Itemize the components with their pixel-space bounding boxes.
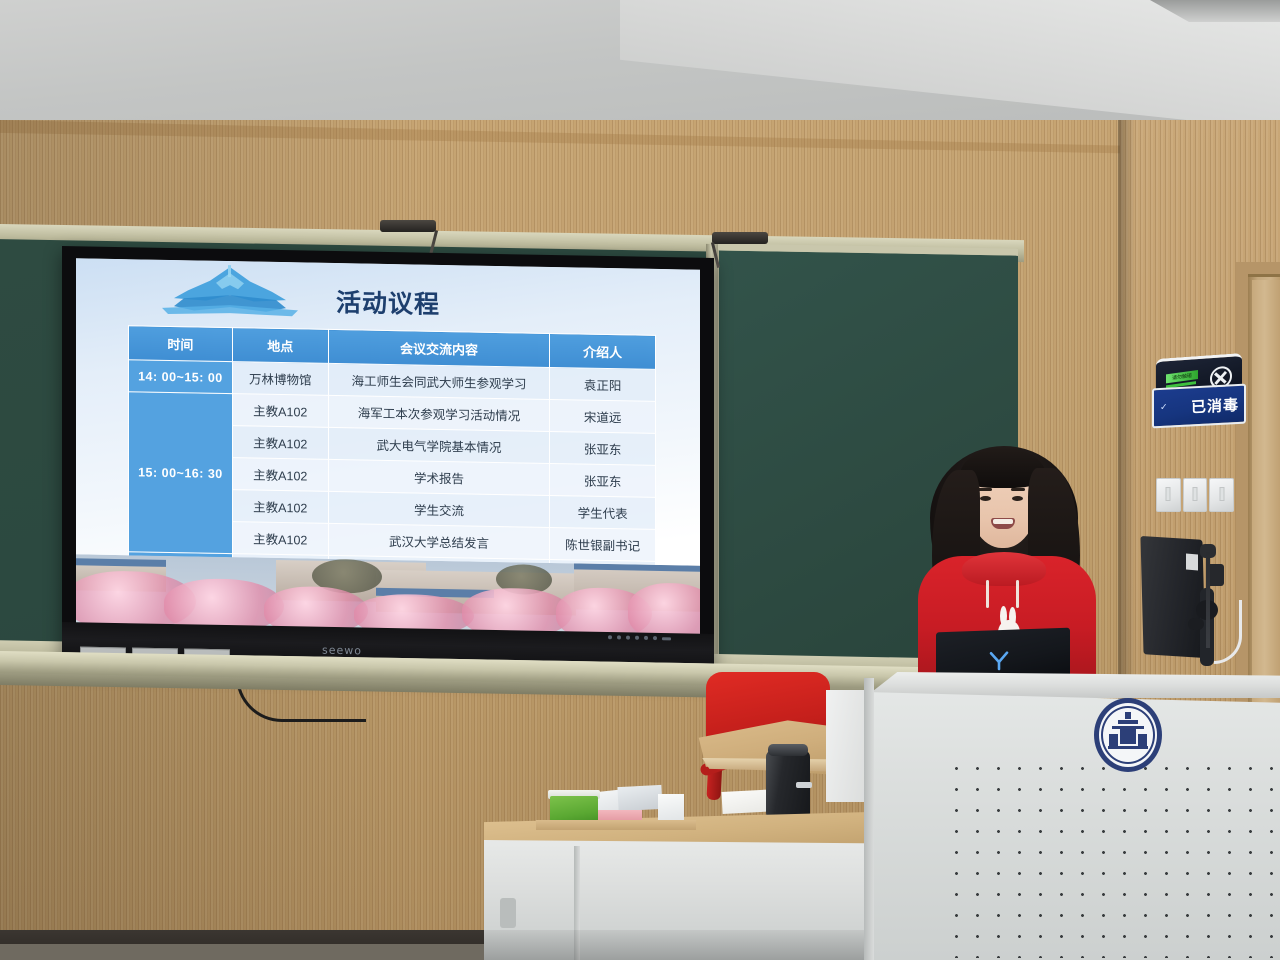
cell-presenter: 陈世银副书记 <box>550 527 656 561</box>
light-switch-3[interactable] <box>1209 478 1234 512</box>
cell-location: 主教A102 <box>232 522 328 556</box>
classroom-scene: 活动议程 时间 地点 会议交流内容 介绍人 14: 00~15: 00 万林博物… <box>0 0 1280 960</box>
university-seal <box>1094 698 1162 772</box>
col-header-content: 会议交流内容 <box>328 329 550 367</box>
cell-content: 海军工本次参观学习活动情况 <box>328 395 550 431</box>
blackboard-lamp-left[interactable] <box>380 220 436 232</box>
cell-location: 主教A102 <box>232 490 328 524</box>
display-control-buttons[interactable] <box>608 633 694 643</box>
cabinet-handle[interactable] <box>500 898 516 928</box>
col-header-presenter: 介绍人 <box>550 333 656 369</box>
hoodie-drawstring-right <box>1016 580 1019 608</box>
cell-content: 武大电气学院基本情况 <box>328 427 550 463</box>
light-switch-2[interactable] <box>1183 478 1208 512</box>
cell-content: 学生交流 <box>328 491 550 527</box>
front-desk-shadow <box>484 930 904 960</box>
cell-presenter: 袁正阳 <box>550 367 656 401</box>
cell-presenter: 宋道远 <box>550 399 656 433</box>
disinfection-sign: 请勿触碰 ✓ 已消毒 <box>1152 352 1246 430</box>
teeth <box>993 519 1013 524</box>
cell-time: 15: 00~16: 30 <box>129 392 233 554</box>
lectern-left-edge <box>864 678 874 960</box>
cell-content: 武汉大学总结发言 <box>328 523 550 559</box>
eyebrow-left <box>978 488 992 491</box>
eyebrow-right <box>1011 488 1025 491</box>
cell-presenter: 张亚东 <box>550 431 656 465</box>
cell-time: 14: 00~15: 00 <box>129 360 233 394</box>
col-header-time: 时间 <box>129 326 233 362</box>
thermos-label <box>796 782 812 788</box>
tray-lip <box>536 820 696 830</box>
cell-location: 主教A102 <box>232 426 328 460</box>
sign-lower-label: 已消毒 <box>1191 393 1239 417</box>
monitor-label-sticker <box>1186 553 1198 570</box>
cell-location: 万林博物馆 <box>232 362 328 396</box>
hoodie-collar <box>962 552 1046 586</box>
col-header-location: 地点 <box>232 328 328 364</box>
laptop-brand-logo-icon <box>988 650 1010 673</box>
eye-left <box>980 496 991 501</box>
sign-lower-panel: ✓ 已消毒 <box>1152 384 1246 429</box>
blackboard-lamp-right[interactable] <box>712 232 768 244</box>
presentation-slide: 活动议程 时间 地点 会议交流内容 介绍人 14: 00~15: 00 万林博物… <box>76 258 700 637</box>
cell-content: 海工师生会同武大师生参观学习 <box>328 363 550 399</box>
cell-content: 学术报告 <box>328 459 550 495</box>
grey-box[interactable] <box>617 785 662 811</box>
eye-right <box>1012 496 1023 501</box>
interactive-display-screen[interactable]: 活动议程 时间 地点 会议交流内容 介绍人 14: 00~15: 00 万林博物… <box>76 258 700 637</box>
light-switch-panels[interactable] <box>1156 478 1234 512</box>
checkmark-icon: ✓ <box>1160 402 1168 413</box>
cell-presenter: 张亚东 <box>550 463 656 497</box>
microphone-stand <box>1206 552 1210 648</box>
light-switch-1[interactable] <box>1156 478 1181 512</box>
floor <box>0 944 560 960</box>
supply-tray <box>536 784 696 828</box>
thermos-cap[interactable] <box>768 744 808 756</box>
cell-location: 主教A102 <box>232 458 328 492</box>
lectern[interactable] <box>864 672 1280 960</box>
monitor-mount-neck <box>1188 618 1204 630</box>
cell-presenter: 学生代表 <box>550 495 656 529</box>
hoodie-drawstring-left <box>986 580 989 608</box>
seewo-brand-label: seewo <box>322 644 362 658</box>
perforated-panel <box>946 758 1280 958</box>
cell-location: 主教A102 <box>232 394 328 428</box>
